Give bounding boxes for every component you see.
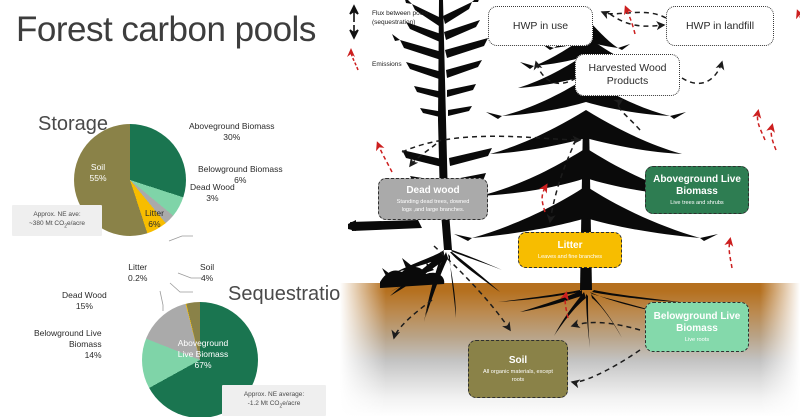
sequestration-slice-label-aboveground: Aboveground Live Biomass 67% bbox=[172, 338, 234, 371]
seq-soil-pct: 4% bbox=[201, 273, 213, 283]
hwp-in-use-box[interactable]: HWP in use bbox=[488, 6, 593, 46]
storage-slice-label-soil: Soil 55% bbox=[78, 162, 118, 184]
legend-flux-label: Flux between pools(sequestration) bbox=[372, 9, 428, 27]
sequestration-pie-chart: Sequestration Aboveground Live Biomass 6… bbox=[0, 250, 340, 417]
storage-dead-pct: 3% bbox=[190, 193, 235, 204]
sequestration-slice-label-belowground: Belowground Live Biomass 14% bbox=[34, 328, 102, 361]
dead-wood-pool-box[interactable]: Dead wood Standing dead trees, downedlog… bbox=[378, 178, 488, 220]
seq-note-line1: Approx. NE average: bbox=[244, 391, 304, 398]
storage-note-line1: Approx. NE ave: bbox=[33, 211, 80, 218]
seq-below-name-l2: Biomass bbox=[69, 339, 102, 349]
storage-slice-label-aboveground: Aboveground Biomass 30% bbox=[189, 121, 275, 143]
ground-fade-right bbox=[760, 283, 800, 417]
sequestration-slice-label-litter: Litter 0.2% bbox=[128, 262, 147, 284]
sequestration-chart-title: Sequestration bbox=[228, 283, 351, 306]
litter-pool-title: Litter bbox=[558, 240, 583, 252]
seq-below-name-l1: Belowground Live bbox=[34, 328, 102, 338]
seq-above-name-l1: Aboveground bbox=[178, 338, 229, 348]
storage-note-line2: ~380 Mt CO2e/acre bbox=[29, 220, 85, 227]
storage-soil-name: Soil bbox=[91, 162, 105, 172]
seq-above-name-l2: Live Biomass bbox=[178, 349, 229, 359]
storage-slice-label-litter: Litter 6% bbox=[145, 208, 164, 230]
storage-slice-label-deadwood: Dead Wood 3% bbox=[190, 182, 235, 204]
storage-litter-name: Litter bbox=[145, 208, 164, 218]
seq-above-pct: 67% bbox=[194, 360, 211, 370]
litter-pool-box[interactable]: Litter Leaves and fine branches bbox=[518, 232, 622, 268]
aboveground-pool-sub: Live trees and shrubs bbox=[670, 199, 723, 207]
sequestration-slice-label-deadwood: Dead Wood 15% bbox=[62, 290, 107, 312]
ground-fade-left bbox=[340, 283, 386, 417]
aboveground-live-biomass-pool-box[interactable]: Aboveground LiveBiomass Live trees and s… bbox=[645, 166, 749, 214]
page-title: Forest carbon pools bbox=[16, 10, 316, 49]
forest-carbon-pools-slide: Forest carbon pools Storage Soil 55% bbox=[0, 0, 800, 417]
soil-pool-box[interactable]: Soil All organic materials, exceptroots bbox=[468, 340, 568, 398]
storage-pie-chart: Storage Soil 55% Aboveground Biomass bbox=[0, 105, 340, 255]
seq-dead-name: Dead Wood bbox=[62, 290, 107, 300]
seq-litter-name: Litter bbox=[128, 262, 147, 272]
storage-litter-pct: 6% bbox=[148, 219, 160, 229]
litter-pool-sub: Leaves and fine branches bbox=[538, 253, 602, 261]
emissions-arrow-icon bbox=[351, 52, 358, 70]
belowground-live-biomass-pool-box[interactable]: Belowground LiveBiomass Live roots bbox=[645, 302, 749, 352]
dead-wood-pool-title: Dead wood bbox=[406, 185, 459, 197]
dead-tree-icon bbox=[348, 0, 502, 322]
seq-note-line2: -1.2 Mt CO2e/acre bbox=[248, 400, 301, 407]
harvested-wood-label: Harvested WoodProducts bbox=[588, 62, 666, 88]
seq-litter-pct: 0.2% bbox=[128, 273, 147, 283]
storage-above-name: Aboveground Biomass bbox=[189, 121, 275, 131]
carbon-pool-diagram-panel: Flux between pools(sequestration) Emissi… bbox=[340, 0, 800, 417]
legend-emissions-label: Emissions bbox=[372, 60, 402, 69]
soil-pool-sub: All organic materials, exceptroots bbox=[483, 368, 553, 384]
hwp-in-landfill-label: HWP in landfill bbox=[686, 20, 754, 33]
belowground-pool-sub: Live roots bbox=[685, 336, 709, 344]
storage-dead-name: Dead Wood bbox=[190, 182, 235, 192]
sequestration-note-box: Approx. NE average: -1.2 Mt CO2e/acre bbox=[222, 385, 326, 416]
storage-below-name: Belowground Biomass bbox=[198, 164, 283, 174]
hwp-in-landfill-box[interactable]: HWP in landfill bbox=[666, 6, 774, 46]
hwp-in-use-label: HWP in use bbox=[513, 20, 568, 33]
storage-chart-title: Storage bbox=[38, 113, 108, 136]
dead-wood-pool-sub: Standing dead trees, downedlogs ,and lar… bbox=[397, 198, 470, 214]
emissions-arrowhead-icon bbox=[347, 48, 355, 57]
seq-below-pct: 14% bbox=[85, 350, 102, 360]
aboveground-pool-title: Aboveground LiveBiomass bbox=[653, 174, 741, 198]
storage-soil-pct: 55% bbox=[89, 173, 106, 183]
seq-dead-pct: 15% bbox=[76, 301, 93, 311]
flux-arrow-down-icon bbox=[350, 25, 358, 38]
storage-above-pct: 30% bbox=[189, 132, 275, 143]
harvested-wood-products-box[interactable]: Harvested WoodProducts bbox=[575, 54, 680, 96]
belowground-pool-title: Belowground LiveBiomass bbox=[654, 311, 741, 335]
soil-pool-title: Soil bbox=[509, 355, 527, 367]
flux-arrow-up-icon bbox=[350, 6, 358, 22]
sequestration-slice-label-soil: Soil 4% bbox=[200, 262, 214, 284]
seq-soil-name: Soil bbox=[200, 262, 214, 272]
storage-note-box: Approx. NE ave: ~380 Mt CO2e/acre bbox=[12, 205, 102, 236]
left-charts-panel: Forest carbon pools Storage Soil 55% bbox=[0, 0, 340, 417]
